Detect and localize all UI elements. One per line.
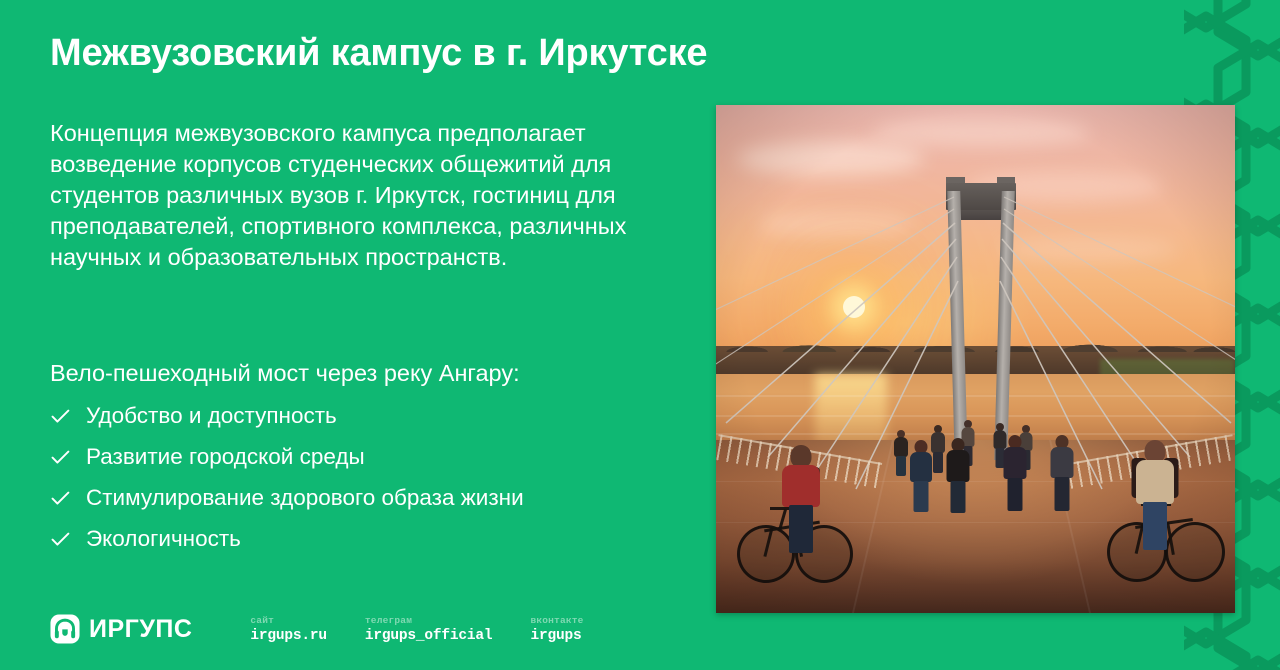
list-item: Стимулирование здорового образа жизни (50, 484, 690, 512)
contact-label: сайт (250, 615, 327, 626)
list-item: Развитие городской среды (50, 443, 690, 471)
bridge-heading: Вело-пешеходный мост через реку Ангару: (50, 358, 690, 388)
contact-value[interactable]: irgups.ru (250, 628, 327, 644)
irgups-logo-icon (50, 614, 80, 644)
contact-value[interactable]: irgups (530, 628, 583, 644)
contact-vkontakte[interactable]: вконтакте irgups (530, 615, 583, 644)
contact-label: вконтакте (530, 615, 583, 626)
benefit-label: Стимулирование здорового образа жизни (86, 484, 524, 512)
cyclist-left (778, 445, 824, 553)
contact-value[interactable]: irgups_official (365, 628, 493, 644)
pedestrian (908, 440, 934, 512)
list-item: Удобство и доступность (50, 402, 690, 430)
benefit-label: Удобство и доступность (86, 402, 337, 430)
benefit-list: Удобство и доступность Развитие городско… (50, 402, 690, 553)
check-icon (50, 443, 70, 471)
intro-paragraph: Концепция межвузовского кампуса предпола… (50, 118, 650, 273)
check-icon (50, 525, 70, 553)
footer: ИРГУПС сайт irgups.ru телеграм irgups_of… (50, 614, 584, 644)
cyclist-right (1132, 440, 1178, 550)
list-item: Экологичность (50, 525, 690, 553)
pedestrian (1001, 435, 1028, 511)
contact-website[interactable]: сайт irgups.ru (250, 615, 327, 644)
benefit-label: Развитие городской среды (86, 443, 365, 471)
pedestrian (1048, 435, 1075, 511)
brand-name: ИРГУПС (89, 615, 192, 644)
page-title: Межвузовский кампус в г. Иркутске (50, 32, 707, 75)
brand-logo: ИРГУПС (50, 614, 192, 644)
check-icon (50, 402, 70, 430)
pedestrian (944, 438, 971, 513)
check-icon (50, 484, 70, 512)
benefit-label: Экологичность (86, 525, 241, 553)
bridge-section: Вело-пешеходный мост через реку Ангару: … (50, 358, 690, 566)
contact-telegram[interactable]: телеграм irgups_official (365, 615, 493, 644)
contact-label: телеграм (365, 615, 493, 626)
bridge-photo (716, 105, 1235, 613)
contact-list: сайт irgups.ru телеграм irgups_official … (250, 615, 583, 644)
